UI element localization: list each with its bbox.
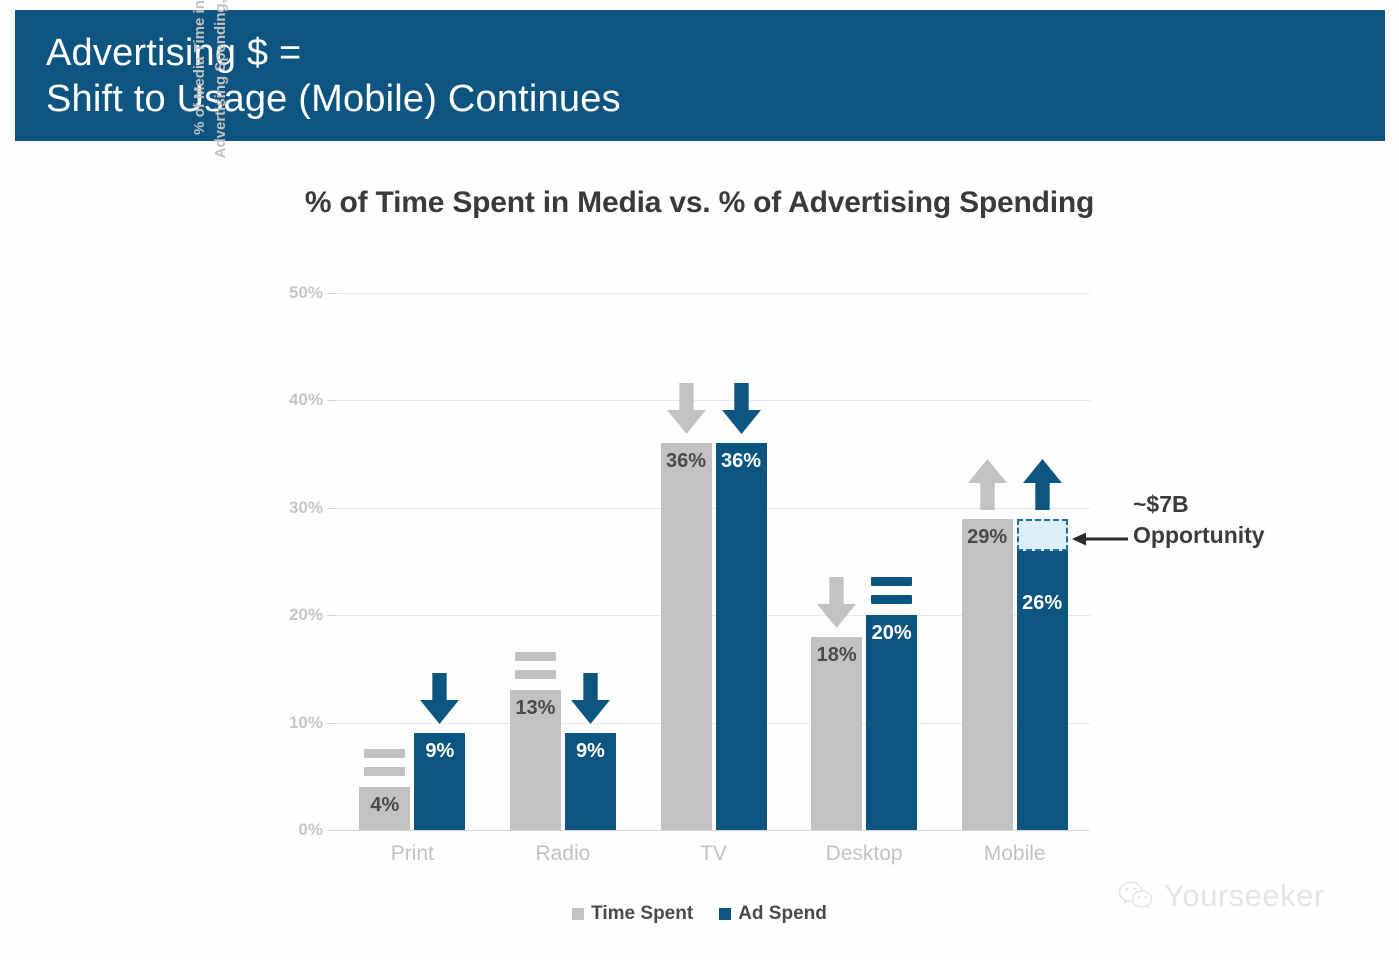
y-tick-label: 0%	[263, 820, 323, 840]
equals-indicator-icon	[871, 577, 912, 607]
arrow-down-icon	[666, 383, 707, 435]
bar-tv-ad-spend[interactable]: 36%	[716, 443, 767, 830]
bar-value-label: 29%	[967, 526, 1007, 549]
opportunity-annotation-text: ~$7B Opportunity	[1133, 489, 1265, 551]
bar-value-label: 9%	[576, 740, 605, 763]
wechat-icon	[1118, 881, 1154, 911]
bar-tv-time-spent[interactable]: 36%	[661, 443, 712, 830]
equals-indicator-icon	[515, 652, 556, 682]
equals-bar	[515, 670, 556, 679]
equals-bar	[364, 767, 405, 776]
equals-indicator-icon	[364, 749, 405, 779]
y-tick-label: 30%	[263, 498, 323, 518]
y-tick-label: 40%	[263, 390, 323, 410]
slide-root: Advertising $ = Shift to Usage (Mobile) …	[0, 0, 1399, 960]
legend-label: Time Spent	[591, 903, 693, 925]
arrow-down-icon	[419, 673, 460, 725]
equals-bar	[871, 577, 912, 586]
arrow-down-icon	[816, 577, 857, 629]
arrow-down-glyph	[721, 383, 762, 435]
watermark-text: Yourseeker	[1164, 878, 1325, 914]
bar-value-label: 26%	[1022, 592, 1062, 615]
y-tick-mark	[327, 293, 337, 294]
bar-value-label: 9%	[425, 740, 454, 763]
y-tick-mark	[327, 508, 337, 509]
equals-bar	[364, 749, 405, 758]
slide-title: Advertising $ = Shift to Usage (Mobile) …	[15, 30, 621, 122]
arrow-up-icon	[967, 459, 1008, 511]
arrow-down-glyph	[570, 673, 611, 725]
y-tick-mark	[327, 615, 337, 616]
arrow-down-icon	[570, 673, 611, 725]
bar-print-ad-spend[interactable]: 9%	[414, 733, 465, 830]
x-axis-label-mobile: Mobile	[939, 842, 1090, 866]
bar-radio-ad-spend[interactable]: 9%	[565, 733, 616, 830]
y-tick-mark	[327, 400, 337, 401]
x-axis-label-tv: TV	[638, 842, 789, 866]
gridline-50%	[337, 293, 1090, 294]
chart-plot-area: 0%10%20%30%40%50%4%9%13%9%36%36%18%20%29…	[337, 293, 1090, 830]
x-axis-label-print: Print	[337, 842, 488, 866]
gridline-40%	[337, 400, 1090, 401]
y-tick-label: 10%	[263, 713, 323, 733]
legend-item-ad-spend[interactable]: Ad Spend	[719, 903, 827, 925]
arrow-down-glyph	[816, 577, 857, 629]
bar-value-label: 36%	[721, 450, 761, 473]
bar-mobile-ad-spend[interactable]: 26%	[1017, 551, 1068, 830]
bar-value-label: 13%	[515, 697, 555, 720]
legend-label: Ad Spend	[738, 903, 827, 925]
y-tick-label: 50%	[263, 283, 323, 303]
bar-radio-time-spent[interactable]: 13%	[510, 690, 561, 830]
legend-item-time-spent[interactable]: Time Spent	[572, 903, 693, 925]
y-tick-mark	[327, 830, 337, 831]
equals-bar	[871, 595, 912, 604]
y-tick-mark	[327, 723, 337, 724]
arrow-down-glyph	[666, 383, 707, 435]
arrow-up-icon	[1022, 459, 1063, 511]
legend-swatch	[572, 908, 584, 920]
bar-desktop-time-spent[interactable]: 18%	[811, 637, 862, 830]
gridline-0%	[337, 830, 1090, 831]
bar-value-label: 4%	[370, 794, 399, 817]
legend-swatch	[719, 908, 731, 920]
bar-print-time-spent[interactable]: 4%	[359, 787, 410, 830]
arrow-down-glyph	[419, 673, 460, 725]
arrow-up-glyph	[967, 459, 1008, 511]
bar-value-label: 20%	[872, 622, 912, 645]
opportunity-box[interactable]	[1017, 519, 1068, 551]
watermark: Yourseeker	[1118, 878, 1325, 914]
y-axis-title: % of Media Time in Media / Advertising S…	[180, 0, 240, 300]
y-tick-label: 20%	[263, 605, 323, 625]
opportunity-arrow-icon	[1072, 532, 1128, 546]
equals-bar	[515, 652, 556, 661]
bar-mobile-time-spent[interactable]: 29%	[962, 519, 1013, 830]
arrow-up-glyph	[1022, 459, 1063, 511]
bar-desktop-ad-spend[interactable]: 20%	[866, 615, 917, 830]
arrow-down-icon	[721, 383, 762, 435]
bar-value-label: 36%	[666, 450, 706, 473]
bar-value-label: 18%	[817, 644, 857, 667]
x-axis-label-radio: Radio	[488, 842, 639, 866]
x-axis-label-desktop: Desktop	[789, 842, 940, 866]
